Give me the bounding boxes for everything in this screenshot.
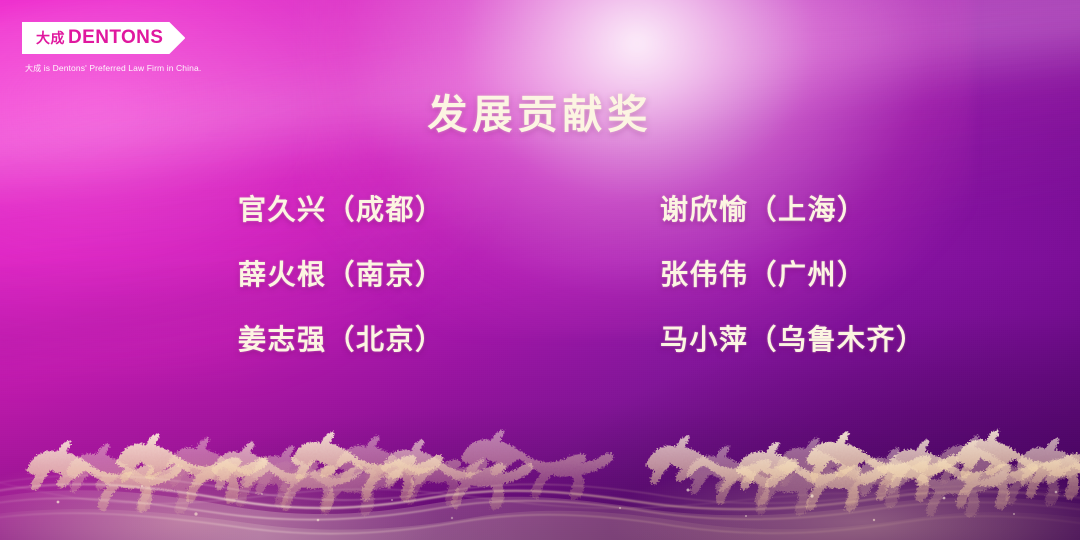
horses-wave-svg — [0, 390, 1080, 540]
page-title: 发展贡献奖 — [0, 82, 1080, 140]
logo-tagline: 大成 is Dentons' Preferred Law Firm in Chi… — [25, 63, 252, 74]
recipient-item: 姜志强（北京） — [150, 318, 560, 358]
recipient-item: 官久兴（成都） — [150, 188, 560, 228]
logo-tagline-chinese: 大成 — [25, 64, 41, 73]
logo-tagline-text: is Dentons' Preferred Law Firm in China. — [41, 63, 201, 73]
logo-badge: 大成 DENTONS — [22, 22, 185, 54]
recipient-item: 马小萍（乌鲁木齐） — [560, 318, 970, 358]
brand-logo: 大成 DENTONS 大成 is Dentons' Preferred Law … — [22, 22, 252, 74]
recipient-item: 谢欣愉（上海） — [560, 188, 970, 228]
award-recipients-grid: 官久兴（成都） 谢欣愉（上海） 薛火根（南京） 张伟伟（广州） 姜志强（北京） … — [150, 188, 970, 358]
logo-chinese-mark: 大成 — [36, 28, 65, 48]
recipient-item: 薛火根（南京） — [150, 253, 560, 293]
award-slide: 大成 DENTONS 大成 is Dentons' Preferred Law … — [0, 0, 1080, 540]
logo-wordmark: DENTONS — [68, 27, 163, 49]
horses-wave-decoration — [0, 390, 1080, 540]
recipient-item: 张伟伟（广州） — [560, 253, 970, 293]
